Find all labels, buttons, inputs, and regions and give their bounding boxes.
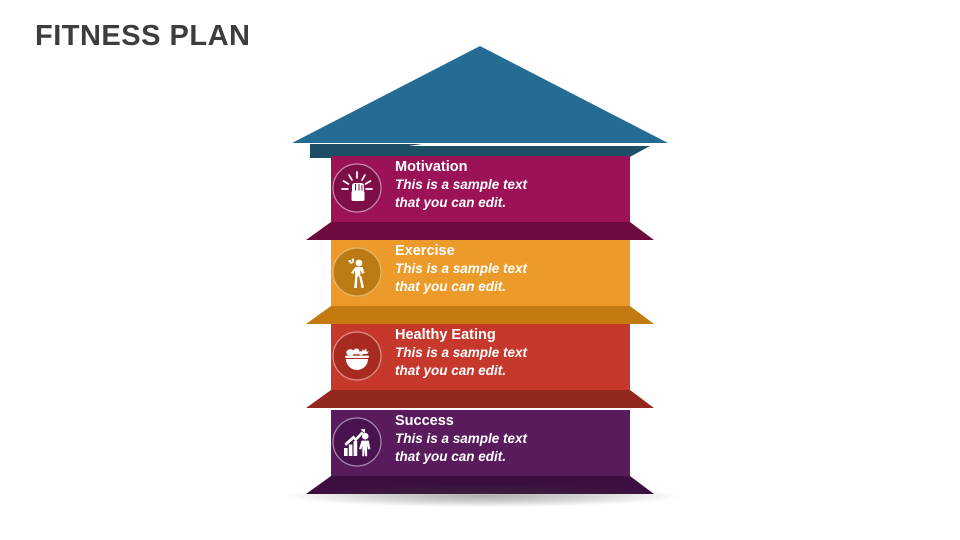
arrow-head-triangle (292, 46, 668, 143)
band-motivation[interactable]: Motivation This is a sample text that yo… (290, 150, 670, 246)
band-title: Exercise (395, 243, 527, 260)
band-title: Healthy Eating (395, 327, 527, 344)
band-text-healthy-eating: Healthy Eating This is a sample text tha… (395, 326, 527, 379)
arrow-head-icon (290, 40, 670, 155)
band-exercise[interactable]: Exercise This is a sample text that you … (290, 234, 670, 330)
band-healthy-eating[interactable]: Healthy Eating This is a sample text tha… (290, 318, 670, 414)
band-title: Motivation (395, 159, 527, 176)
band-success[interactable]: Success This is a sample text that you c… (290, 404, 670, 500)
growth-chart-person-icon (331, 416, 383, 468)
raised-fist-icon (331, 162, 383, 214)
band-title: Success (395, 413, 527, 430)
salad-bowl-icon (331, 330, 383, 382)
band-description-line1: This is a sample text (395, 260, 527, 278)
band-text-motivation: Motivation This is a sample text that yo… (395, 158, 527, 211)
band-description-line1: This is a sample text (395, 176, 527, 194)
band-text-exercise: Exercise This is a sample text that you … (395, 242, 527, 295)
band-description-line2: that you can edit. (395, 194, 527, 212)
band-description-line1: This is a sample text (395, 430, 527, 448)
band-description-line2: that you can edit. (395, 362, 527, 380)
band-description-line2: that you can edit. (395, 448, 527, 466)
slide-canvas: FITNESS PLAN (0, 0, 960, 540)
band-text-success: Success This is a sample text that you c… (395, 412, 527, 465)
band-fold-success (306, 476, 654, 494)
band-description-line1: This is a sample text (395, 344, 527, 362)
page-title: FITNESS PLAN (35, 20, 250, 53)
weightlifter-icon (331, 246, 383, 298)
band-description-line2: that you can edit. (395, 278, 527, 296)
fitness-plan-band-stack: Motivation This is a sample text that yo… (290, 150, 670, 510)
